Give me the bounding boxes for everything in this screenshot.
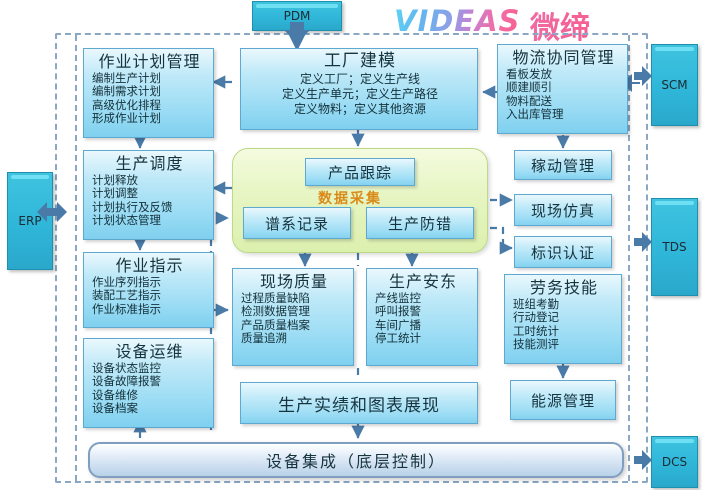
external-system-tds-label: TDS bbox=[662, 240, 686, 254]
diagram-canvas: VIDEAS 微缔 bbox=[0, 0, 702, 490]
module-instruction[interactable]: 作业指示 作业序列指示 装配工艺指示 作业标准指示 bbox=[83, 252, 214, 328]
module-plan-item-3: 形成作业计划 bbox=[92, 112, 207, 125]
module-labor-title: 劳务技能 bbox=[513, 278, 615, 297]
external-system-scm[interactable]: SCM bbox=[651, 44, 698, 126]
core-box-genealogy-label: 谱系记录 bbox=[265, 213, 329, 234]
module-schedule-title: 生产调度 bbox=[92, 154, 207, 173]
external-system-erp[interactable]: ERP bbox=[7, 172, 53, 270]
module-plan-item-2: 高级优化排程 bbox=[92, 99, 207, 112]
core-box-product-tracking-label: 产品跟踪 bbox=[328, 162, 392, 183]
module-logistics[interactable]: 物流协同管理 看板发放 顺建顺引 物料配送 入出库管理 bbox=[497, 44, 628, 134]
module-oee-label: 稼动管理 bbox=[531, 155, 595, 176]
external-system-tds[interactable]: TDS bbox=[651, 198, 698, 296]
module-quality-item-3: 质量追溯 bbox=[241, 332, 347, 345]
module-labor-item-0: 班组考勤 bbox=[513, 298, 615, 311]
core-box-error-proofing[interactable]: 生产防错 bbox=[366, 207, 474, 239]
module-energy[interactable]: 能源管理 bbox=[510, 380, 616, 420]
module-instruction-item-1: 装配工艺指示 bbox=[92, 289, 207, 302]
module-equipment-item-3: 设备档案 bbox=[92, 402, 207, 415]
module-identification-label: 标识认证 bbox=[531, 242, 595, 263]
module-equipment-item-2: 设备维修 bbox=[92, 389, 207, 402]
module-logistics-item-1: 顺建顺引 bbox=[506, 81, 621, 94]
integration-bar[interactable]: 设备集成（底层控制） bbox=[88, 442, 624, 478]
module-performance-report[interactable]: 生产实绩和图表展现 bbox=[240, 382, 478, 424]
module-instruction-title: 作业指示 bbox=[92, 256, 207, 275]
module-simulation-label: 现场仿真 bbox=[531, 200, 595, 221]
module-quality-item-0: 过程质量缺陷 bbox=[241, 292, 347, 305]
module-labor-item-3: 技能测评 bbox=[513, 338, 615, 351]
module-andon-item-1: 呼叫报警 bbox=[375, 305, 471, 318]
integration-bar-label: 设备集成（底层控制） bbox=[266, 448, 446, 472]
module-energy-label: 能源管理 bbox=[531, 390, 595, 411]
module-factory-model-item-0: 定义工厂；定义生产线 bbox=[249, 72, 471, 87]
module-logistics-item-3: 入出库管理 bbox=[506, 108, 621, 121]
module-simulation[interactable]: 现场仿真 bbox=[514, 194, 612, 226]
module-plan[interactable]: 作业计划管理 编制生产计划 编制需求计划 高级优化排程 形成作业计划 bbox=[83, 48, 214, 138]
module-andon-item-3: 停工统计 bbox=[375, 332, 471, 345]
module-andon[interactable]: 生产安东 产线监控 呼叫报警 车间广播 停工统计 bbox=[366, 268, 478, 366]
module-labor-item-2: 工时统计 bbox=[513, 325, 615, 338]
external-system-erp-label: ERP bbox=[18, 214, 41, 228]
module-plan-title: 作业计划管理 bbox=[92, 52, 207, 71]
module-equipment-item-1: 设备故障报警 bbox=[92, 375, 207, 388]
module-instruction-item-2: 作业标准指示 bbox=[92, 303, 207, 316]
module-factory-model-item-1: 定义生产单元；定义生产路径 bbox=[249, 87, 471, 102]
module-schedule-item-2: 计划执行及反馈 bbox=[92, 201, 207, 214]
module-identification[interactable]: 标识认证 bbox=[514, 236, 612, 268]
inner-boundary-right bbox=[628, 35, 630, 481]
external-system-pdm-label: PDM bbox=[284, 9, 311, 23]
module-performance-report-label: 生产实绩和图表展现 bbox=[278, 391, 440, 416]
module-equipment[interactable]: 设备运维 设备状态监控 设备故障报警 设备维修 设备档案 bbox=[83, 338, 214, 428]
module-labor[interactable]: 劳务技能 班组考勤 行动登记 工时统计 技能测评 bbox=[504, 274, 622, 364]
core-box-genealogy[interactable]: 谱系记录 bbox=[243, 207, 351, 239]
module-plan-item-0: 编制生产计划 bbox=[92, 72, 207, 85]
module-labor-item-1: 行动登记 bbox=[513, 311, 615, 324]
module-andon-title: 生产安东 bbox=[375, 272, 471, 291]
module-factory-model[interactable]: 工厂建模 定义工厂；定义生产线 定义生产单元；定义生产路径 定义物料；定义其他资… bbox=[240, 48, 478, 130]
module-equipment-title: 设备运维 bbox=[92, 342, 207, 361]
module-quality-item-2: 产品质量档案 bbox=[241, 319, 347, 332]
external-system-dcs[interactable]: DCS bbox=[651, 436, 698, 488]
module-schedule[interactable]: 生产调度 计划释放 计划调整 计划执行及反馈 计划状态管理 bbox=[83, 150, 214, 240]
module-schedule-item-3: 计划状态管理 bbox=[92, 214, 207, 227]
core-panel-tag: 数据采集 bbox=[318, 188, 382, 208]
module-schedule-item-0: 计划释放 bbox=[92, 174, 207, 187]
module-schedule-item-1: 计划调整 bbox=[92, 187, 207, 200]
core-box-error-proofing-label: 生产防错 bbox=[388, 213, 452, 234]
module-quality[interactable]: 现场质量 过程质量缺陷 检测数据管理 产品质量档案 质量追溯 bbox=[232, 268, 354, 366]
module-factory-model-title: 工厂建模 bbox=[249, 52, 471, 71]
module-instruction-item-0: 作业序列指示 bbox=[92, 276, 207, 289]
module-andon-item-0: 产线监控 bbox=[375, 292, 471, 305]
module-logistics-item-2: 物料配送 bbox=[506, 95, 621, 108]
external-system-pdm[interactable]: PDM bbox=[252, 1, 342, 31]
module-quality-title: 现场质量 bbox=[241, 272, 347, 291]
external-system-scm-label: SCM bbox=[661, 78, 687, 92]
module-andon-item-2: 车间广播 bbox=[375, 319, 471, 332]
external-system-dcs-label: DCS bbox=[662, 455, 687, 469]
module-logistics-item-0: 看板发放 bbox=[506, 68, 621, 81]
module-quality-item-1: 检测数据管理 bbox=[241, 305, 347, 318]
module-plan-item-1: 编制需求计划 bbox=[92, 85, 207, 98]
module-equipment-item-0: 设备状态监控 bbox=[92, 362, 207, 375]
core-box-product-tracking[interactable]: 产品跟踪 bbox=[305, 158, 415, 186]
module-factory-model-item-2: 定义物料；定义其他资源 bbox=[249, 102, 471, 117]
module-oee[interactable]: 稼动管理 bbox=[514, 150, 612, 180]
module-logistics-title: 物流协同管理 bbox=[506, 48, 621, 67]
inner-boundary-left bbox=[75, 35, 77, 481]
